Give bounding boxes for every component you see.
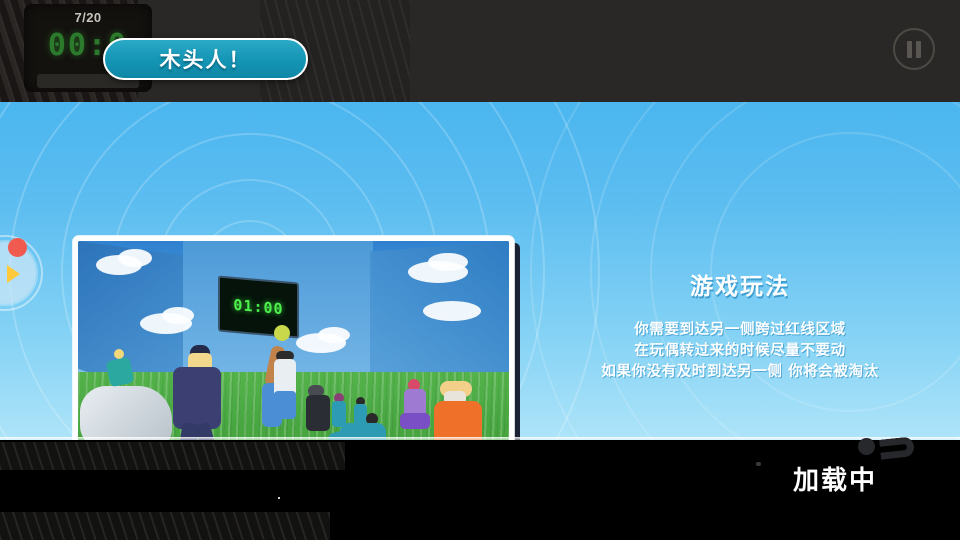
loading-label: 加载中 xyxy=(770,460,900,497)
running-figure-head xyxy=(858,438,875,455)
preview-rock xyxy=(80,386,172,440)
preview-cloud xyxy=(162,307,194,324)
game-loading-screen: 7/20 00:0 木头人！ xyxy=(0,0,960,540)
bottom-texture-top xyxy=(0,442,345,470)
round-counter: 7/20 xyxy=(24,10,152,25)
notification-badge-dot xyxy=(8,238,27,257)
bottom-speck-left xyxy=(278,497,280,499)
bottom-speck-right xyxy=(756,462,761,466)
bottom-texture-bottom xyxy=(0,512,330,540)
pause-icon-bar-right xyxy=(916,41,921,58)
howto-line-2: 在玩偶转过来的时候尽量不要动 xyxy=(520,341,960,362)
top-bar: 7/20 00:0 木头人！ xyxy=(0,0,960,102)
play-icon xyxy=(7,265,20,283)
pause-icon-bar-left xyxy=(907,41,912,58)
pause-button[interactable] xyxy=(893,28,935,70)
game-preview-frame[interactable]: 01:00 xyxy=(73,236,514,440)
preview-scoreboard-timer: 01:00 xyxy=(233,296,283,318)
preview-cloud xyxy=(318,327,350,343)
howto-line-3: 如果你没有及时到达另一侧 你将会被淘汰 xyxy=(520,362,960,383)
preview-character xyxy=(274,325,290,341)
preview-character xyxy=(306,395,330,431)
preview-character xyxy=(400,413,430,429)
preview-cloud xyxy=(423,301,481,321)
game-mode-title-button[interactable]: 木头人！ xyxy=(103,38,308,80)
preview-cloud xyxy=(118,249,152,267)
game-mode-title-label: 木头人！ xyxy=(160,44,252,74)
running-figure-arm xyxy=(879,436,915,459)
howto-title: 游戏玩法 xyxy=(520,267,960,301)
preview-cloud xyxy=(428,253,468,271)
howto-line-1: 你需要到达另一侧跨过红线区域 xyxy=(520,320,960,341)
game-preview-image: 01:00 xyxy=(78,241,509,440)
preview-character xyxy=(434,401,482,440)
howto-body: 你需要到达另一侧跨过红线区域 在玩偶转过来的时候尽量不要动 如果你没有及时到达另… xyxy=(520,320,960,383)
preview-character xyxy=(173,367,221,429)
preview-character xyxy=(106,357,135,387)
howto-panel: 01:00 xyxy=(0,102,960,440)
preview-character xyxy=(274,391,296,419)
